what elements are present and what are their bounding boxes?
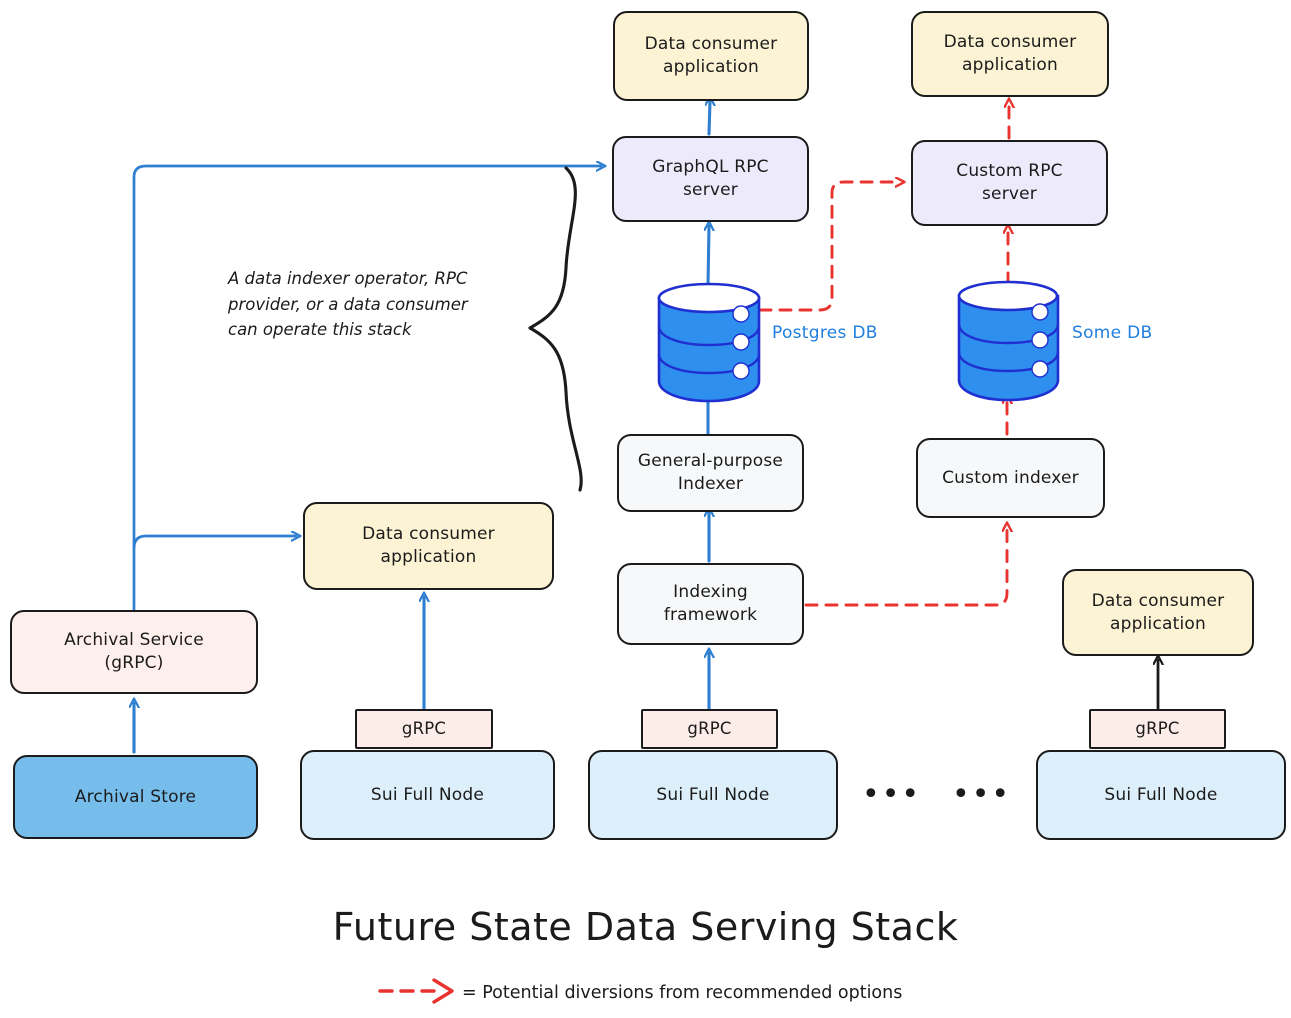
node-label-line2: application <box>645 56 778 79</box>
database-cylinder-icon-somedb <box>959 282 1058 400</box>
node-label-line2: application <box>1092 613 1225 636</box>
annotation-note: A data indexer operator, RPC provider, o… <box>228 266 496 343</box>
node-label: Archival Store <box>75 786 196 809</box>
node-label-line1: Archival Service <box>64 629 204 652</box>
legend-label: = Potential diversions from recommended … <box>462 983 902 1003</box>
curly-brace-icon <box>530 168 581 490</box>
page-title: Future State Data Serving Stack <box>0 905 1291 949</box>
arrow-archival-service-to-consumer <box>134 536 296 548</box>
ellipsis-left: ••• <box>862 780 921 810</box>
label-some-db: Some DB <box>1072 323 1152 343</box>
arrow-postgres-to-graphql <box>708 226 709 286</box>
node-label: Sui Full Node <box>371 784 484 807</box>
node-label: gRPC <box>402 718 446 740</box>
arrow-framework-to-custom-indexer <box>806 527 1007 605</box>
node-label-line1: Custom indexer <box>942 467 1079 490</box>
label-postgres-db: Postgres DB <box>772 323 878 343</box>
node-label: gRPC <box>687 718 731 740</box>
node-label-line1: Data consumer <box>944 31 1077 54</box>
node-label-line2: framework <box>664 604 757 627</box>
node-label-line2: Indexer <box>638 473 783 496</box>
arrow-graphql-to-consumer <box>709 101 710 134</box>
node-grpc-mid[interactable]: gRPC <box>641 709 778 749</box>
node-archival-service[interactable]: Archival Service (gRPC) <box>10 610 258 694</box>
database-cylinder-icon-postgres <box>659 284 759 401</box>
node-label-line2: server <box>652 179 769 202</box>
node-label-line1: Custom RPC <box>956 160 1062 183</box>
node-sui-full-node-right[interactable]: Sui Full Node <box>1036 750 1286 840</box>
node-label-line1: Data consumer <box>1092 590 1225 613</box>
node-grpc-right[interactable]: gRPC <box>1089 709 1226 749</box>
node-label-line1: GraphQL RPC <box>652 156 769 179</box>
node-sui-full-node-mid[interactable]: Sui Full Node <box>588 750 838 840</box>
node-label-line2: application <box>362 546 495 569</box>
ellipsis-right: ••• <box>952 780 1011 810</box>
node-consumer-archival[interactable]: Data consumer application <box>303 502 554 590</box>
node-label-line1: Data consumer <box>645 33 778 56</box>
node-label-line2: server <box>956 183 1062 206</box>
node-label: Sui Full Node <box>1104 784 1217 807</box>
node-label-line1: Indexing <box>664 581 757 604</box>
node-label: Sui Full Node <box>656 784 769 807</box>
node-graphql-rpc-server[interactable]: GraphQL RPC server <box>612 136 809 222</box>
node-sui-full-node-left[interactable]: Sui Full Node <box>300 750 555 840</box>
node-archival-store[interactable]: Archival Store <box>13 755 258 839</box>
node-label-line2: (gRPC) <box>64 652 204 675</box>
node-consumer-right[interactable]: Data consumer application <box>1062 569 1254 656</box>
node-custom-indexer[interactable]: Custom indexer <box>916 438 1105 518</box>
node-label-line2: application <box>944 54 1077 77</box>
node-consumer-graphql[interactable]: Data consumer application <box>613 11 809 101</box>
node-custom-rpc-server[interactable]: Custom RPC server <box>911 140 1108 226</box>
node-indexing-framework[interactable]: Indexing framework <box>617 563 804 645</box>
legend-dashed-arrow-icon <box>380 980 452 1002</box>
node-consumer-custom[interactable]: Data consumer application <box>911 11 1109 97</box>
node-grpc-left[interactable]: gRPC <box>355 709 493 749</box>
node-general-purpose-indexer[interactable]: General-purpose Indexer <box>617 434 804 512</box>
node-label: gRPC <box>1135 718 1179 740</box>
node-label-line1: General-purpose <box>638 450 783 473</box>
node-label-line1: Data consumer <box>362 523 495 546</box>
